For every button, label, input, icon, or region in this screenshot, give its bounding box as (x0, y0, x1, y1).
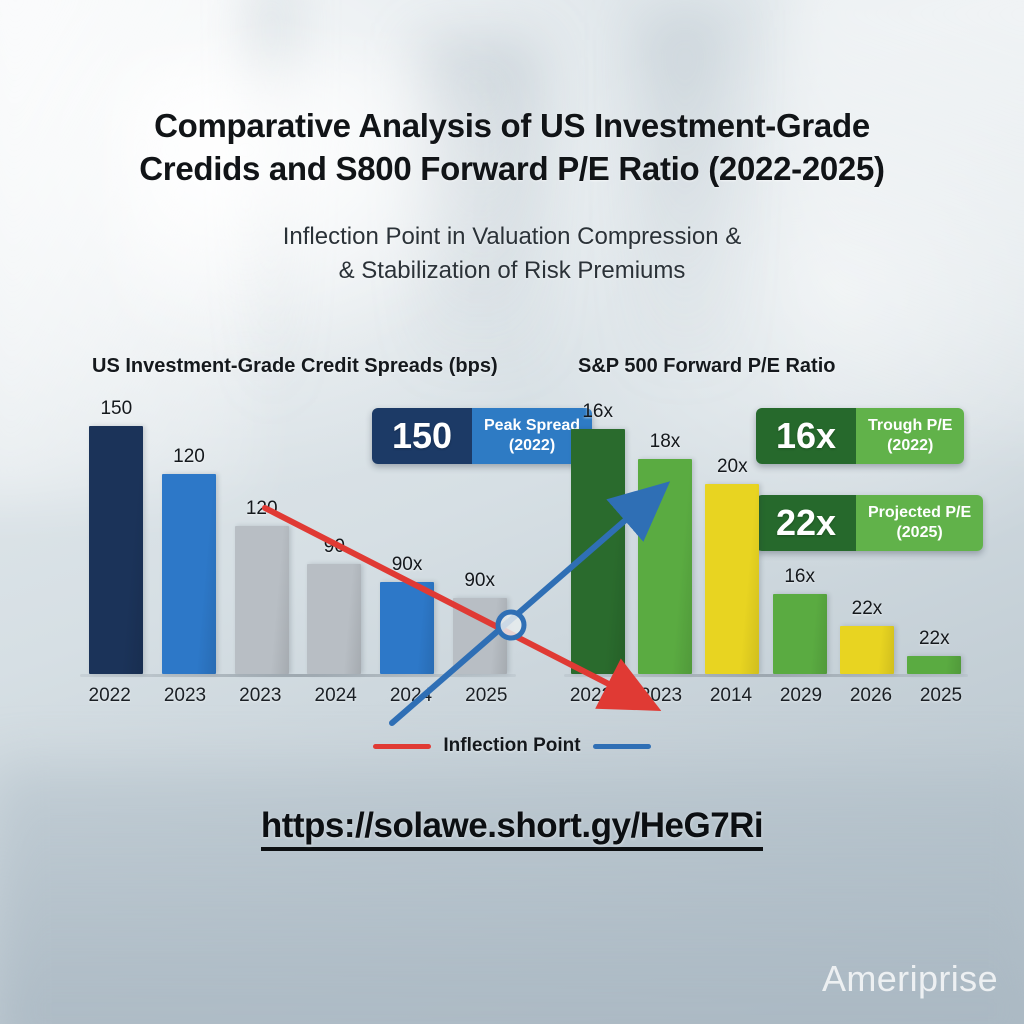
bar-value-label: 90x (464, 570, 495, 592)
x-axis-label: 2025 (449, 685, 524, 715)
x-axis-label: 2024 (298, 685, 373, 715)
bar-value-label: 120 (173, 446, 205, 468)
infographic-canvas: Comparative Analysis of US Investment-Gr… (0, 0, 1024, 1024)
bar-value-label: 22x (919, 628, 950, 650)
x-axis-label: 2025 (906, 685, 976, 715)
title-line-2: Credids and S800 Forward P/E Ratio (2022… (0, 147, 1024, 190)
bar-value-label: 90 (324, 536, 345, 558)
bar-value-label: 120 (246, 498, 278, 520)
right-chart-plot: 16x18x20x16x22x22x (564, 417, 968, 677)
bar-slot: 120 (153, 417, 226, 674)
bar (907, 656, 961, 674)
subtitle-line-1: Inflection Point in Valuation Compressio… (0, 220, 1024, 254)
bar-value-label: 16x (582, 401, 613, 423)
background-column-3 (640, 10, 730, 370)
bar-slot: 90 (298, 417, 371, 674)
title-line-1: Comparative Analysis of US Investment-Gr… (0, 104, 1024, 147)
legend-label: Inflection Point (443, 735, 580, 757)
bar-value-label: 20x (717, 456, 748, 478)
bar-slot: 16x (564, 417, 631, 674)
x-axis-label: 2024 (373, 685, 448, 715)
source-url-block: https://solawe.short.gy/HeG7Ri (0, 806, 1024, 851)
left-chart-panel: US Investment-Grade Credit Spreads (bps)… (72, 355, 524, 725)
legend-line-blue-icon (593, 744, 651, 749)
page-subtitle: Inflection Point in Valuation Compressio… (0, 220, 1024, 288)
bar-slot: 120 (225, 417, 298, 674)
bar-value-label: 18x (650, 431, 681, 453)
x-axis-label: 2023 (223, 685, 298, 715)
bar (307, 564, 361, 674)
bar-value-label: 150 (100, 398, 132, 420)
bar-slot: 150 (80, 417, 153, 674)
background-column-2 (420, 40, 540, 370)
bar-slot: 18x (631, 417, 698, 674)
source-url-link[interactable]: https://solawe.short.gy/HeG7Ri (261, 806, 763, 851)
bar (235, 526, 289, 674)
x-axis-label: 2014 (696, 685, 766, 715)
bar (571, 429, 625, 674)
right-chart-panel: S&P 500 Forward P/E Ratio 16x Trough P/E… (556, 355, 976, 725)
right-chart-axis (564, 674, 968, 677)
background-column-1 (258, 0, 284, 400)
bar (840, 626, 894, 674)
bar (380, 582, 434, 674)
bar-slot: 22x (901, 417, 968, 674)
bar-value-label: 90x (392, 554, 423, 576)
x-axis-label: 2023 (147, 685, 222, 715)
bar-slot: 16x (766, 417, 833, 674)
bar (638, 459, 692, 674)
x-axis-label: 2023 (626, 685, 696, 715)
left-chart-bars: 1501201209090x90x (80, 417, 516, 674)
bar (773, 594, 827, 674)
right-chart-bars: 16x18x20x16x22x22x (564, 417, 968, 674)
bar (162, 474, 216, 674)
bar-slot: 22x (833, 417, 900, 674)
left-chart-x-axis-labels: 202220232023202420242025 (72, 685, 524, 715)
x-axis-label: 2022 (72, 685, 147, 715)
right-chart-x-axis-labels: 202220232014202920262025 (556, 685, 976, 715)
left-chart-title: US Investment-Grade Credit Spreads (bps) (92, 355, 498, 378)
bar (89, 426, 143, 674)
x-axis-label: 2026 (836, 685, 906, 715)
legend-line-red-icon (373, 744, 431, 749)
bar-value-label: 22x (852, 598, 883, 620)
x-axis-label: 2029 (766, 685, 836, 715)
bar (453, 598, 507, 674)
left-chart-axis (80, 674, 516, 677)
right-chart-title: S&P 500 Forward P/E Ratio (578, 355, 836, 378)
brand-watermark: Ameriprise (822, 958, 998, 1000)
chart-legend: Inflection Point (0, 735, 1024, 757)
bar-value-label: 16x (784, 566, 815, 588)
bar-slot: 90x (443, 417, 516, 674)
left-chart-plot: 1501201209090x90x (80, 417, 516, 677)
bar (705, 484, 759, 674)
bar-slot: 90x (371, 417, 444, 674)
page-title: Comparative Analysis of US Investment-Gr… (0, 104, 1024, 190)
x-axis-label: 2022 (556, 685, 626, 715)
subtitle-line-2: & Stabilization of Risk Premiums (0, 254, 1024, 288)
bar-slot: 20x (699, 417, 766, 674)
